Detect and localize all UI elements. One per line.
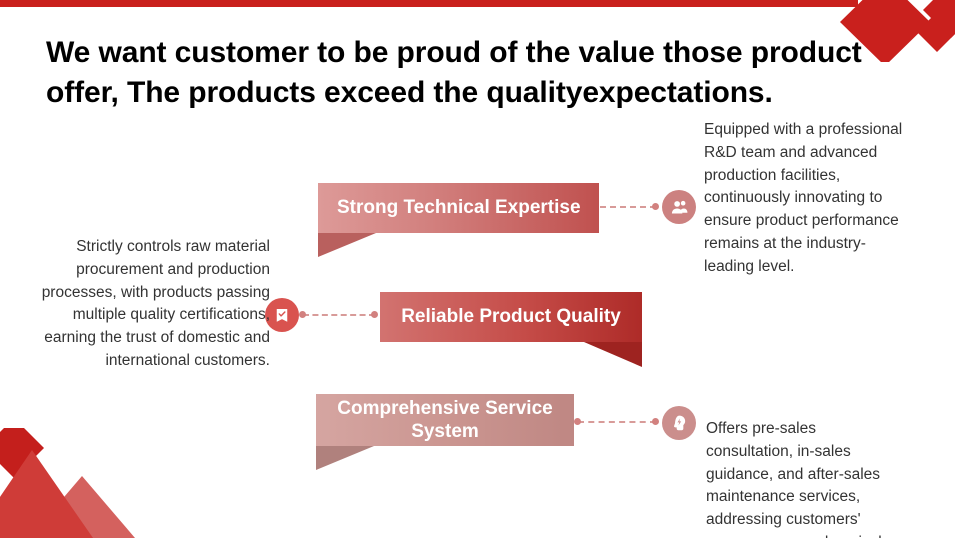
top-accent-bar bbox=[0, 0, 858, 7]
banner-fold-2 bbox=[584, 342, 642, 367]
banner-comprehensive-service-system[interactable]: Comprehensive Service System bbox=[316, 394, 574, 446]
users-icon bbox=[670, 198, 689, 217]
clipboard-check-icon bbox=[273, 306, 291, 324]
connector-line-1 bbox=[600, 206, 656, 210]
connector-dot-2a bbox=[299, 311, 306, 318]
banner-reliable-product-quality[interactable]: Reliable Product Quality bbox=[380, 292, 642, 342]
slide-canvas: We want customer to be proud of the valu… bbox=[0, 0, 955, 538]
banner-label: Reliable Product Quality bbox=[380, 306, 642, 328]
banner-fold-1 bbox=[318, 233, 376, 257]
banner-strong-technical-expertise[interactable]: Strong Technical Expertise bbox=[318, 183, 599, 233]
banner-label: Strong Technical Expertise bbox=[337, 197, 599, 219]
head-idea-icon bbox=[669, 413, 689, 433]
bottom-left-decoration bbox=[0, 428, 170, 538]
icon-badge-3[interactable] bbox=[662, 406, 696, 440]
connector-line-2 bbox=[303, 314, 375, 318]
connector-dot-2b bbox=[371, 311, 378, 318]
connector-dot-3b bbox=[652, 418, 659, 425]
description-2: Strictly controls raw material procureme… bbox=[32, 236, 270, 373]
page-title: We want customer to be proud of the valu… bbox=[46, 33, 926, 113]
description-3: Offers pre-sales consultation, in-sales … bbox=[706, 418, 906, 538]
connector-line-3 bbox=[578, 421, 656, 425]
connector-dot-3a bbox=[574, 418, 581, 425]
connector-dot-1 bbox=[652, 203, 659, 210]
description-1: Equipped with a professional R&D team an… bbox=[704, 119, 909, 278]
icon-badge-2[interactable] bbox=[265, 298, 299, 332]
banner-fold-3 bbox=[316, 446, 374, 470]
icon-badge-1[interactable] bbox=[662, 190, 696, 224]
banner-label: Comprehensive Service System bbox=[316, 397, 574, 443]
